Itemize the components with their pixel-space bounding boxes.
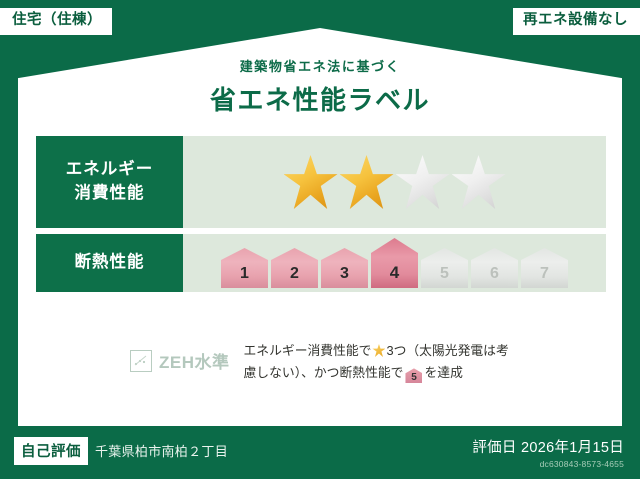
zeh-standard-note: ZEH水準 エネルギー消費性能で3つ（太陽光発電は考慮しない）、かつ断熱性能で5…	[130, 340, 519, 385]
row-energy-label-line1: エネルギー	[66, 158, 154, 182]
star-icon	[372, 344, 385, 357]
title-main: 省エネ性能ラベル	[0, 80, 640, 117]
insulation-grade-scale: 1234567	[221, 238, 568, 288]
star-filled-icon	[340, 155, 394, 209]
insulation-grade-4: 4	[371, 238, 418, 288]
insulation-grade-7: 7	[521, 248, 568, 288]
title-subtitle: 建築物省エネ法に基づく	[0, 56, 640, 75]
zeh-chart-icon	[130, 350, 152, 372]
insulation-grade-5: 5	[421, 248, 468, 288]
row-insulation-value: 1234567	[183, 234, 606, 292]
self-evaluation-badge: 自己評価	[14, 437, 88, 465]
zeh-desc-part1: エネルギー消費性能で	[244, 343, 372, 358]
row-insulation-label-line1: 断熱性能	[75, 251, 145, 275]
insulation-grade-2: 2	[271, 248, 318, 288]
energy-performance-label: 住宅（住棟） 再エネ設備なし 建築物省エネ法に基づく 省エネ性能ラベル エネルギ…	[0, 0, 640, 479]
property-address: 千葉県柏市南柏２丁目	[95, 441, 228, 460]
star-empty-icon	[452, 155, 506, 209]
row-insulation-label: 断熱性能	[36, 234, 183, 292]
grade-badge-inline: 5	[405, 368, 422, 383]
star-empty-icon	[396, 155, 450, 209]
evaluation-date: 評価日 2026年1月15日	[472, 436, 624, 457]
footer-left: 自己評価 千葉県柏市南柏２丁目	[14, 437, 228, 465]
row-insulation: 断熱性能 1234567	[36, 234, 606, 292]
page-title: 建築物省エネ法に基づく 省エネ性能ラベル	[0, 56, 640, 117]
metric-rows: エネルギー 消費性能 断熱性能 1234567	[36, 136, 606, 298]
star-filled-icon	[284, 155, 338, 209]
zeh-mark-label: ZEH水準	[159, 348, 230, 373]
row-energy-label: エネルギー 消費性能	[36, 136, 183, 228]
zeh-mark: ZEH水準	[130, 340, 230, 373]
building-type-badge: 住宅（住棟）	[0, 8, 112, 35]
insulation-grade-6: 6	[471, 248, 518, 288]
insulation-grade-3: 3	[321, 248, 368, 288]
zeh-desc-star-count: 3つ（太陽光発電	[386, 343, 483, 358]
zeh-desc-part3: を達成	[424, 365, 462, 380]
row-energy-label-line2: 消費性能	[75, 182, 145, 206]
footer-right: 評価日 2026年1月15日 dc630843-8573-4655	[472, 436, 624, 469]
insulation-grade-1: 1	[221, 248, 268, 288]
row-energy-consumption: エネルギー 消費性能	[36, 136, 606, 228]
renewable-energy-badge: 再エネ設備なし	[513, 8, 640, 35]
star-rating	[284, 155, 506, 209]
zeh-description: エネルギー消費性能で3つ（太陽光発電は考慮しない）、かつ断熱性能で5を達成	[244, 340, 519, 385]
row-energy-value	[183, 136, 606, 228]
evaluation-code: dc630843-8573-4655	[472, 459, 624, 469]
